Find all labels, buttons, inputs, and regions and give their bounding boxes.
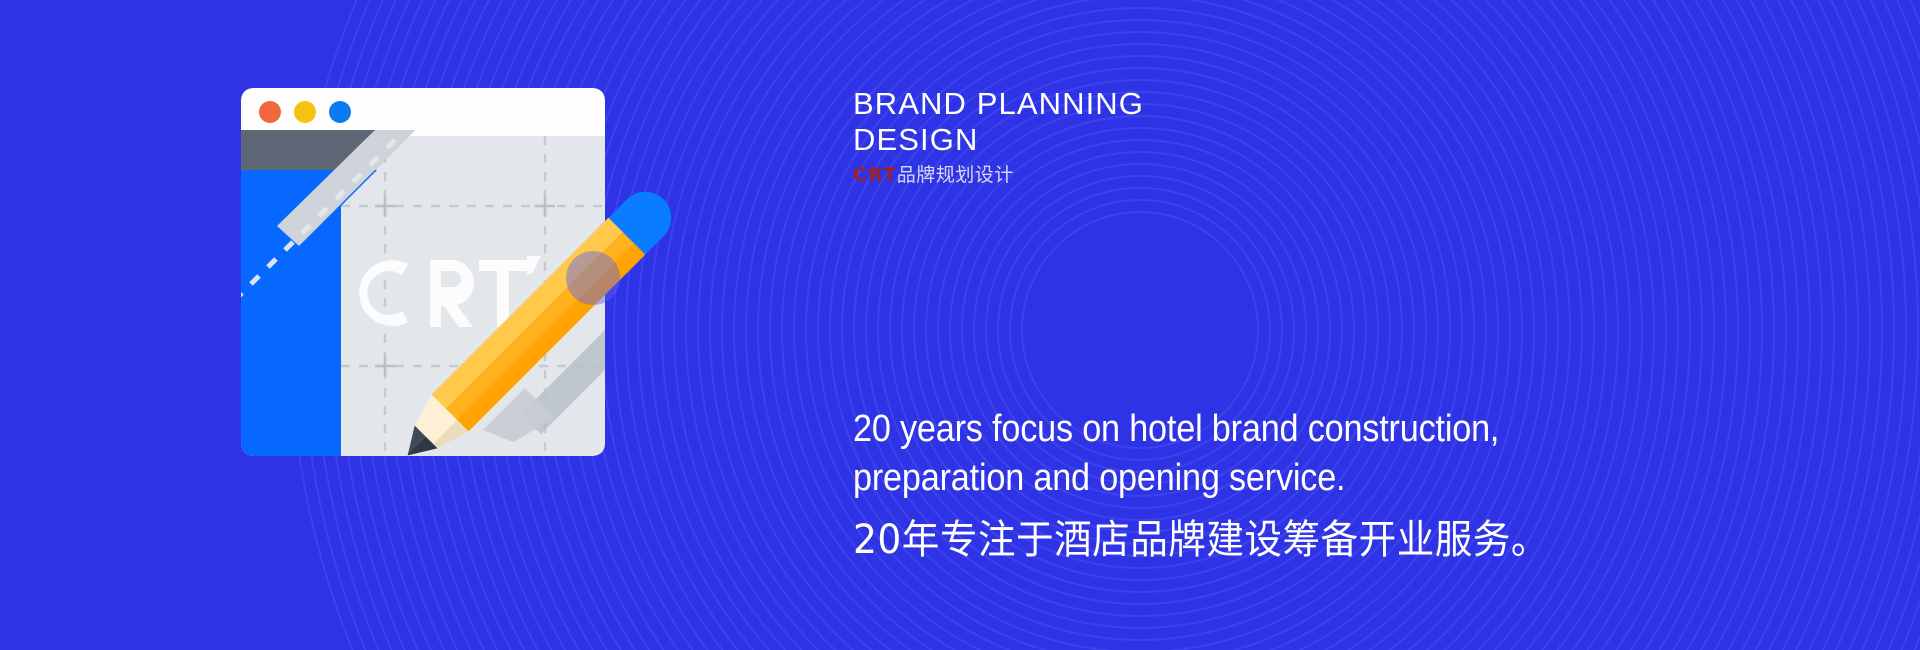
eraser-shadow	[566, 251, 620, 305]
headline-chinese: 20年专注于酒店品牌建设筹备开业服务。	[853, 515, 1699, 565]
headline-english: 20 years focus on hotel brand constructi…	[853, 405, 1663, 503]
brand-design-illustration	[225, 78, 705, 558]
eyebrow-english-title: BRAND PLANNING DESIGN	[853, 86, 1373, 158]
close-dot	[259, 101, 281, 123]
headline-text-block: 20 years focus on hotel brand constructi…	[853, 405, 1753, 565]
eyebrow-text-block: BRAND PLANNING DESIGN CRT品牌规划设计	[853, 86, 1373, 188]
eyebrow-brand-mark: CRT	[853, 164, 897, 186]
window-control-dots	[259, 101, 351, 123]
eyebrow-chinese-label: 品牌规划设计	[897, 164, 1014, 186]
set-square-ruler-outside	[165, 130, 241, 380]
minimize-dot	[294, 101, 316, 123]
brand-banner: BRAND PLANNING DESIGN CRT品牌规划设计 20 years…	[0, 0, 1920, 650]
maximize-dot	[329, 101, 351, 123]
eyebrow-chinese-subtitle: CRT品牌规划设计	[853, 162, 1373, 188]
